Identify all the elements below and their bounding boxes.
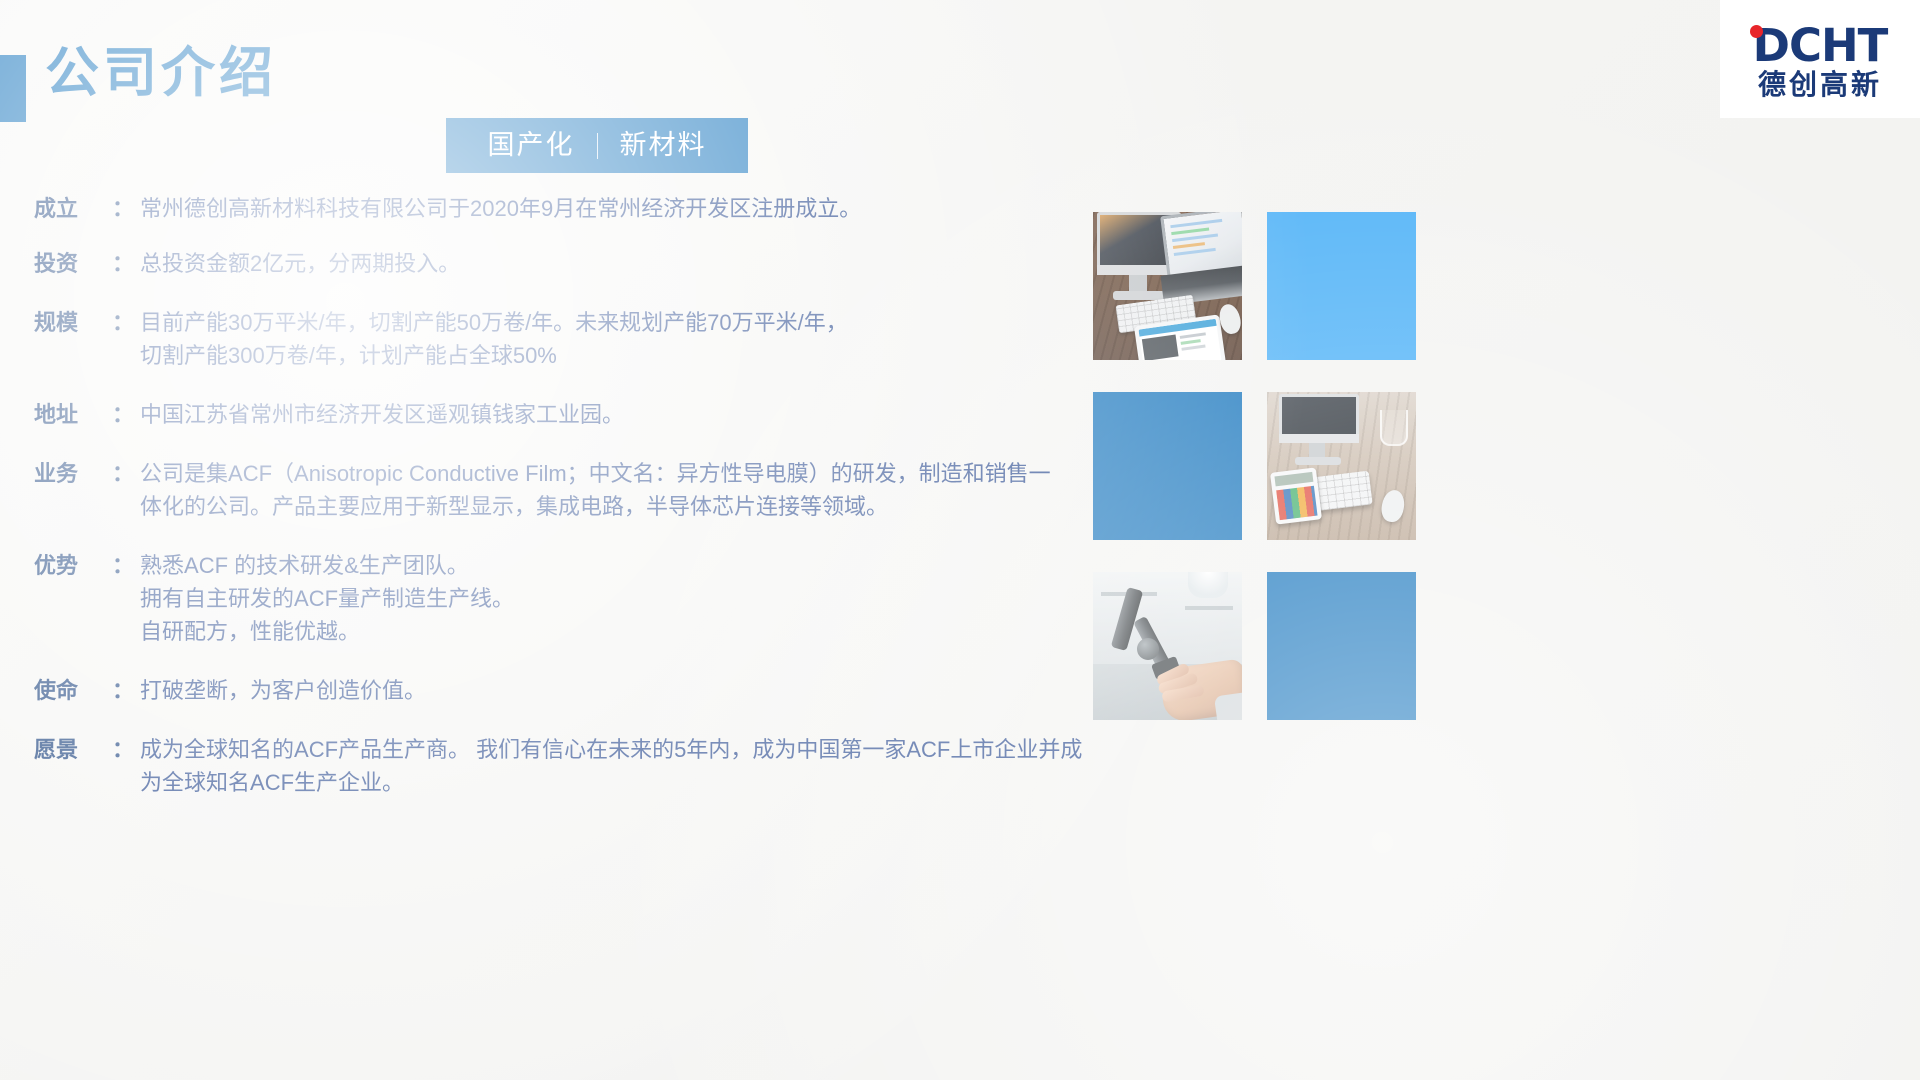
row-line: 为全球知名ACF生产企业。 (140, 766, 1094, 799)
photo-desk-workstation (1093, 212, 1242, 360)
row-line: 切割产能300万卷/年，计划产能占全球50% (140, 339, 1094, 372)
row-label: 优势 (34, 549, 112, 582)
row-body: 公司是集ACF（Anisotropic Conductive Film；中文名：… (140, 457, 1094, 523)
row-body: 总投资金额2亿元，分两期投入。 (140, 247, 1094, 280)
row-colon: ： (112, 398, 140, 431)
row-line: 公司是集ACF（Anisotropic Conductive Film；中文名：… (140, 457, 1094, 490)
row-body: 目前产能30万平米/年，切割产能50万卷/年。未来规划产能70万平米/年， 切割… (140, 306, 1094, 372)
info-row-scale: 规模 ： 目前产能30万平米/年，切割产能50万卷/年。未来规划产能70万平米/… (34, 306, 1094, 372)
tablet-hero-image (1142, 335, 1179, 360)
info-row-advantage: 优势 ： 熟悉ACF 的技术研发&生产团队。 拥有自主研发的ACF量产制造生产线… (34, 549, 1094, 648)
row-colon: ： (112, 247, 140, 280)
calculator-display (1274, 472, 1313, 487)
row-line: 拥有自主研发的ACF量产制造生产线。 (140, 582, 1094, 615)
tablet-text-line (1181, 344, 1205, 350)
tablet-text-line (1181, 339, 1201, 345)
logo-wordmark-text: DCHT (1753, 19, 1888, 72)
imac-screen-icon (1279, 394, 1359, 437)
row-colon: ： (112, 674, 140, 707)
color-block-blue-right (1267, 572, 1416, 720)
info-row-address: 地址 ： 中国江苏省常州市经济开发区遥观镇钱家工业园。 (34, 398, 1094, 431)
row-line: 目前产能30万平米/年，切割产能50万卷/年。未来规划产能70万平米/年， (140, 306, 1094, 339)
page-title: 公司介绍 (45, 42, 277, 104)
title-accent-bar (0, 55, 26, 122)
row-line: 体化的公司。产品主要应用于新型显示，集成电路，半导体芯片连接等领域。 (140, 490, 1094, 523)
info-row-mission: 使命 ： 打破垄断，为客户创造价值。 (34, 674, 1094, 707)
row-colon: ： (112, 457, 140, 490)
slide-canvas: 公司介绍 DCHT 德创高新 国产化 新材料 成立 ： 常州德创高新材料科技有限… (0, 0, 1920, 1080)
info-row-founding: 成立 ： 常州德创高新材料科技有限公司于2020年9月在常州经济开发区注册成立。 (34, 192, 1094, 225)
glass-icon (1380, 410, 1408, 446)
photo-office-desk (1267, 392, 1416, 540)
company-logo: DCHT 德创高新 (1720, 0, 1920, 118)
row-line: 总投资金额2亿元，分两期投入。 (140, 247, 1094, 280)
info-row-business: 业务 ： 公司是集ACF（Anisotropic Conductive Film… (34, 457, 1094, 523)
row-body: 熟悉ACF 的技术研发&生产团队。 拥有自主研发的ACF量产制造生产线。 自研配… (140, 549, 1094, 648)
company-info-list: 成立 ： 常州德创高新材料科技有限公司于2020年9月在常州经济开发区注册成立。… (34, 192, 1094, 821)
row-colon: ： (112, 733, 140, 766)
row-line: 中国江苏省常州市经济开发区遥观镇钱家工业园。 (140, 398, 1094, 431)
info-row-vision: 愿景 ： 成为全球知名的ACF产品生产商。 我们有信心在未来的5年内，成为中国第… (34, 733, 1094, 799)
row-label: 使命 (34, 674, 112, 707)
row-body: 常州德创高新材料科技有限公司于2020年9月在常州经济开发区注册成立。 (140, 192, 1094, 225)
info-row-investment: 投资 ： 总投资金额2亿元，分两期投入。 (34, 247, 1094, 280)
calculator-keys (1276, 486, 1317, 520)
row-colon: ： (112, 549, 140, 582)
row-body: 打破垄断，为客户创造价值。 (140, 674, 1094, 707)
image-mosaic (1093, 212, 1421, 720)
tag-banner: 国产化 新材料 (446, 118, 748, 173)
tablet-text-line (1180, 332, 1206, 339)
robot-joint (1137, 638, 1159, 660)
row-line: 常州德创高新材料科技有限公司于2020年9月在常州经济开发区注册成立。 (140, 192, 1094, 225)
row-label: 业务 (34, 457, 112, 490)
color-block-blue-left (1093, 392, 1242, 540)
row-body: 成为全球知名的ACF产品生产商。 我们有信心在未来的5年内，成为中国第一家ACF… (140, 733, 1094, 799)
calculator-icon (1270, 467, 1322, 524)
row-colon: ： (112, 306, 140, 339)
logo-wordmark: DCHT (1753, 23, 1888, 68)
lab-lamp-icon (1188, 572, 1228, 598)
tag-localization: 国产化 (466, 132, 597, 159)
color-block-light-blue (1267, 212, 1416, 360)
row-label: 地址 (34, 398, 112, 431)
logo-chinese-name: 德创高新 (1758, 71, 1882, 99)
imac-chin (1279, 434, 1359, 443)
tag-new-material: 新材料 (598, 132, 729, 159)
tablet-screen (1138, 319, 1221, 360)
row-label: 投资 (34, 247, 112, 280)
row-colon: ： (112, 192, 140, 225)
row-line: 成为全球知名的ACF产品生产商。 我们有信心在未来的5年内，成为中国第一家ACF… (140, 733, 1094, 766)
row-line: 熟悉ACF 的技术研发&生产团队。 (140, 549, 1094, 582)
row-label: 成立 (34, 192, 112, 225)
row-label: 愿景 (34, 733, 112, 766)
row-line: 打破垄断，为客户创造价值。 (140, 674, 1094, 707)
row-body: 中国江苏省常州市经济开发区遥观镇钱家工业园。 (140, 398, 1094, 431)
row-line: 自研配方，性能优越。 (140, 615, 1094, 648)
hand-sleeve (1214, 692, 1242, 720)
lab-shelf (1185, 606, 1233, 610)
logo-red-dot-icon (1750, 25, 1763, 38)
tag-divider (597, 133, 598, 159)
imac-foot (1295, 457, 1341, 465)
photo-robot-arm (1093, 572, 1242, 720)
row-label: 规模 (34, 306, 112, 339)
imac-stand (1309, 443, 1325, 457)
